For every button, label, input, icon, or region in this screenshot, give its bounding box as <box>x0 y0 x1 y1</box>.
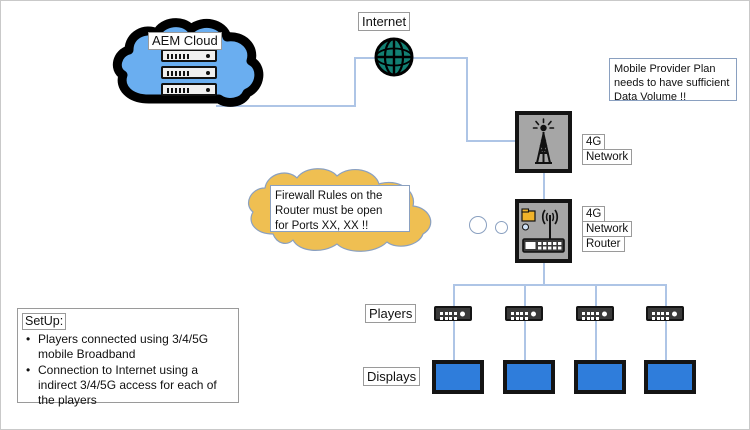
player-2-leds <box>511 312 528 320</box>
firewall-note: Firewall Rules on the Router must be ope… <box>270 185 410 232</box>
setup-bullet-list: Players connected using 3/4/5G mobile Br… <box>18 332 238 408</box>
router-label-line-2: Network <box>582 221 632 237</box>
connector-internet-to-tower-h2 <box>466 140 516 142</box>
server-unit-1 <box>161 49 217 62</box>
connector-cloud-to-internet-v <box>354 57 356 107</box>
server-unit-3 <box>161 83 217 96</box>
server-stack <box>161 49 217 97</box>
connector-bus-to-player-1 <box>453 284 455 306</box>
tower-label-line-2: Network <box>582 149 632 165</box>
router-label-line-3: Router <box>582 236 625 252</box>
internet-label: Internet <box>358 12 410 31</box>
4g-network-tower-box <box>515 111 572 173</box>
display-3[interactable] <box>574 360 626 394</box>
connector-player-3-to-display-3 <box>595 321 597 361</box>
setup-bullet-1: Players connected using 3/4/5G mobile Br… <box>38 332 232 362</box>
setup-title: SetUp: <box>22 313 66 330</box>
mobile-note-line-3: Data Volume !! <box>614 90 732 104</box>
players-row-label: Players <box>365 304 416 323</box>
player-4[interactable] <box>646 306 684 321</box>
mobile-provider-note: Mobile Provider Plan needs to have suffi… <box>609 58 737 101</box>
server-knob-3 <box>206 88 210 92</box>
thought-bubble-circle-small <box>495 221 508 234</box>
server-knob-2 <box>206 71 210 75</box>
player-2-knob <box>531 311 536 316</box>
display-1[interactable] <box>432 360 484 394</box>
connector-tower-to-router <box>543 173 545 199</box>
display-4[interactable] <box>644 360 696 394</box>
firewall-note-line-3: for Ports XX, XX !! <box>275 219 405 234</box>
diagram-canvas: AEM Cloud Internet Mobile Provider Plan … <box>0 0 750 430</box>
tower-icon <box>519 115 568 169</box>
connector-player-2-to-display-2 <box>524 321 526 361</box>
player-3-leds <box>582 312 599 320</box>
globe-shape <box>374 37 414 77</box>
server-leds-3 <box>167 88 189 93</box>
internet-globe-icon <box>374 37 414 77</box>
tower-label-line-1: 4G <box>582 134 605 150</box>
player-2[interactable] <box>505 306 543 321</box>
router-icon <box>519 203 568 259</box>
connector-player-1-to-display-1 <box>453 321 455 361</box>
connector-bus-to-player-3 <box>595 284 597 306</box>
thought-bubble-circle-large <box>469 216 487 234</box>
firewall-note-line-2: Router must be open <box>275 204 405 219</box>
connector-internet-to-tower-v <box>466 57 468 142</box>
server-leds-1 <box>167 54 189 59</box>
connector-router-to-bus <box>543 263 545 285</box>
4g-network-router-box <box>515 199 572 263</box>
player-4-leds <box>652 312 669 320</box>
player-1-knob <box>460 311 465 316</box>
player-1-leds <box>440 312 457 320</box>
display-2[interactable] <box>503 360 555 394</box>
server-knob-1 <box>206 54 210 58</box>
connector-player-bus <box>453 284 666 286</box>
player-4-knob <box>672 311 677 316</box>
connector-bus-to-player-4 <box>665 284 667 306</box>
server-leds-2 <box>167 71 189 76</box>
setup-bullet-2: Connection to Internet using a indirect … <box>38 363 232 408</box>
aem-cloud-label: AEM Cloud <box>148 32 222 50</box>
connector-internet-to-tower-h1 <box>413 57 468 59</box>
setup-legend: SetUp: Players connected using 3/4/5G mo… <box>17 308 239 403</box>
player-3-knob <box>602 311 607 316</box>
displays-row-label: Displays <box>363 367 420 386</box>
mobile-note-line-2: needs to have sufficient <box>614 76 732 90</box>
connector-player-4-to-display-4 <box>665 321 667 361</box>
server-unit-2 <box>161 66 217 79</box>
mobile-note-line-1: Mobile Provider Plan <box>614 62 732 76</box>
player-3[interactable] <box>576 306 614 321</box>
connector-bus-to-player-2 <box>524 284 526 306</box>
firewall-note-line-1: Firewall Rules on the <box>275 189 405 204</box>
router-label-line-1: 4G <box>582 206 605 222</box>
connector-internet-left-stub <box>354 57 376 59</box>
player-1[interactable] <box>434 306 472 321</box>
